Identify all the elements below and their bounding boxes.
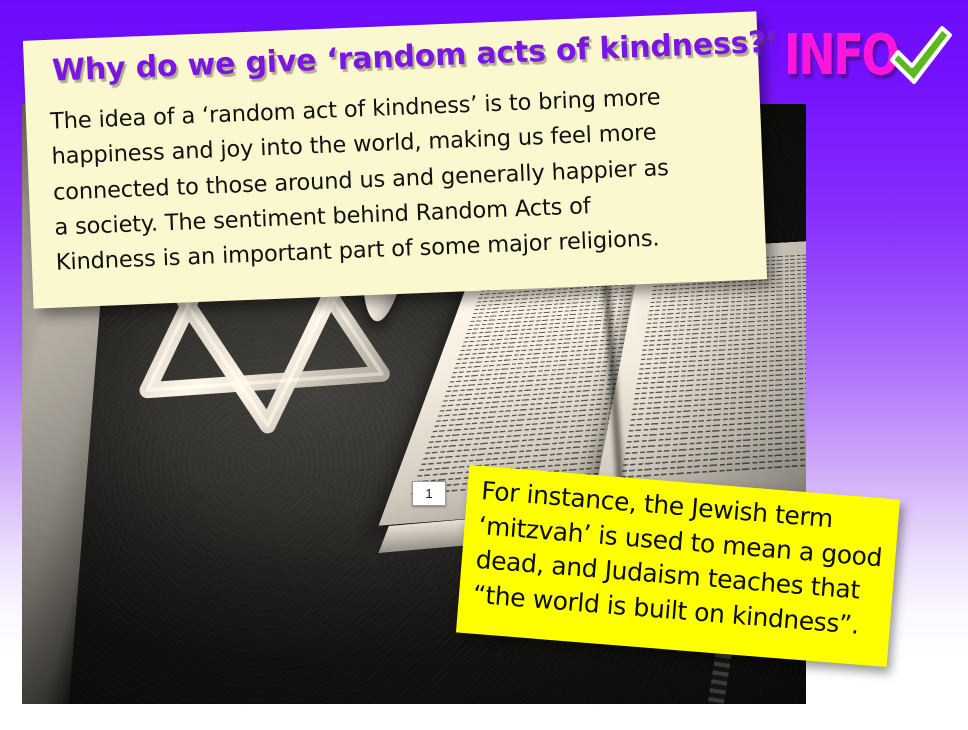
green-check-icon — [884, 22, 956, 94]
card-title: Why do we give ‘random acts of kindness?… — [51, 26, 738, 89]
info-label: INFO — [784, 28, 897, 84]
info-card-yellow: For instance, the Jewish term ‘mitzvah’ … — [456, 465, 900, 667]
slide-canvas: 1 Why do we give ‘random acts of kindnes… — [0, 0, 968, 730]
image-source-badge[interactable]: 1 — [412, 481, 446, 506]
card-body: The idea of a ‘random act of kindness’ i… — [50, 77, 747, 281]
info-card-cream: Why do we give ‘random acts of kindness?… — [23, 11, 767, 308]
